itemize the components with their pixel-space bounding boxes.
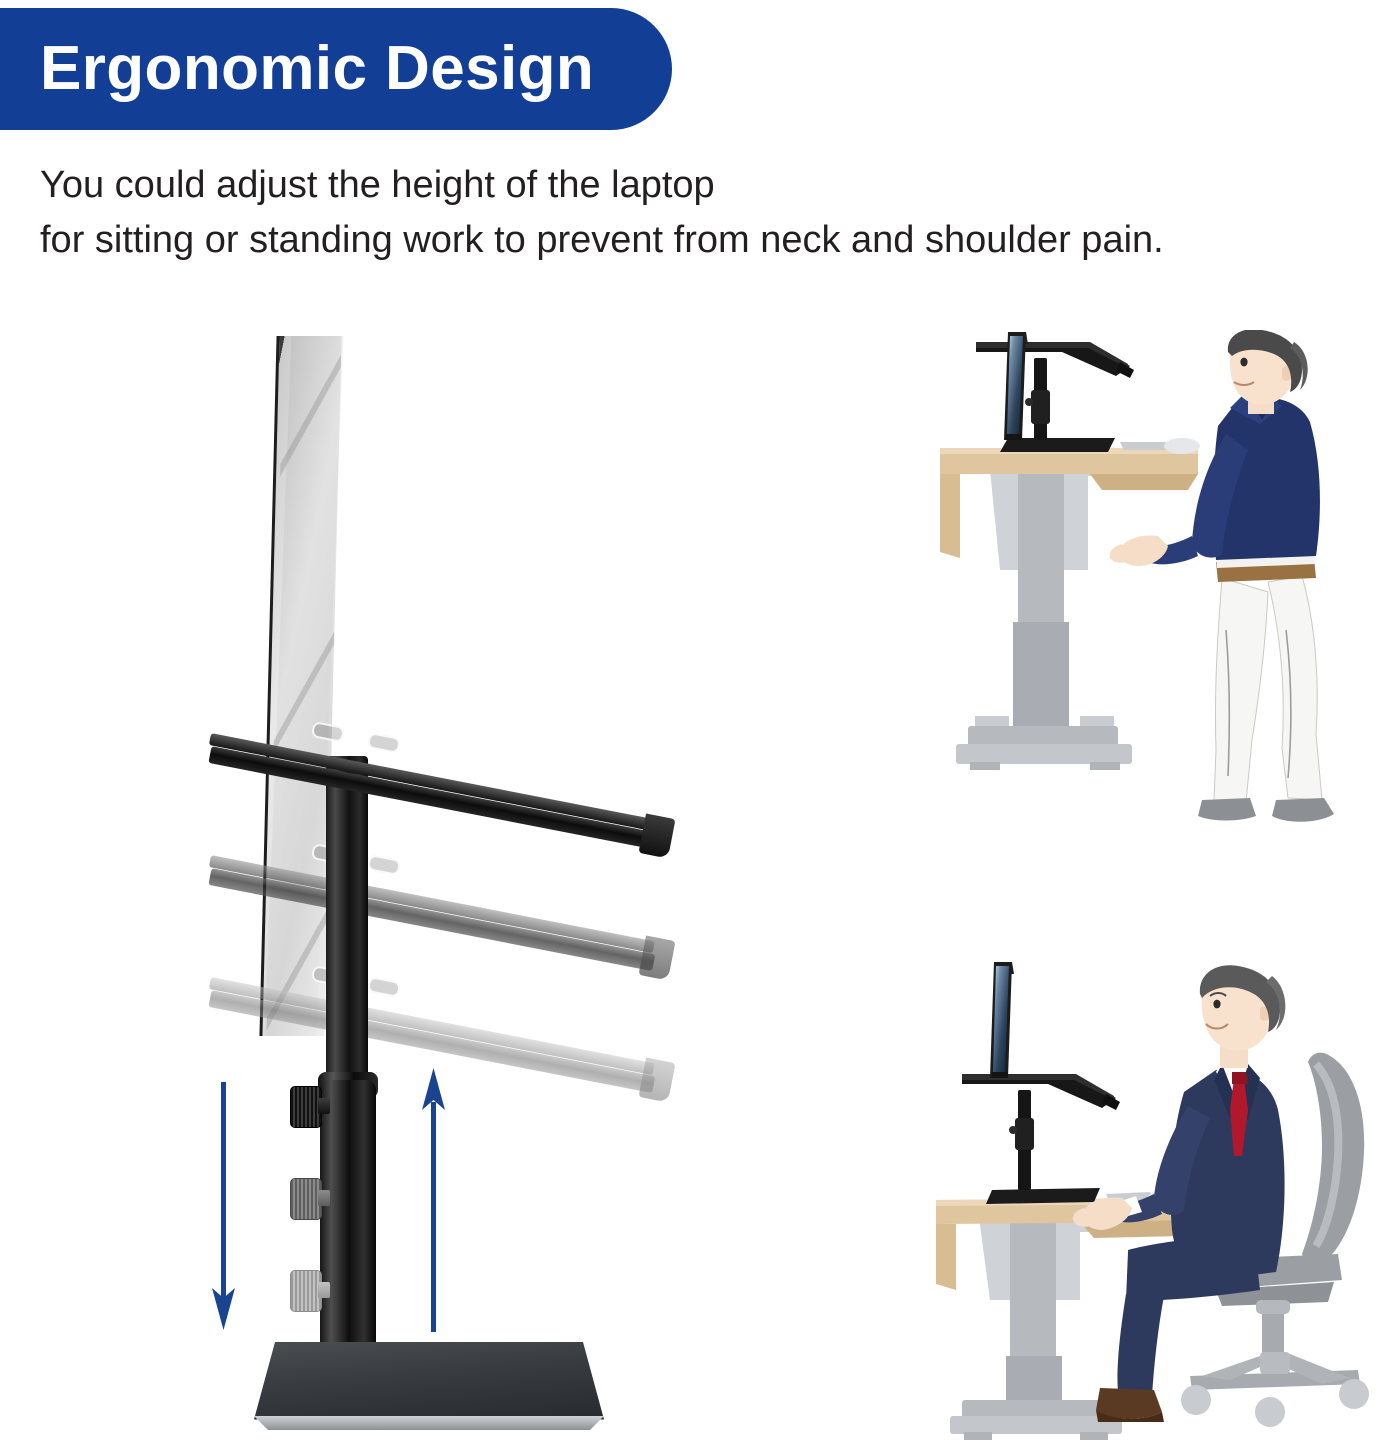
- subtitle-line-2: for sitting or standing work to prevent …: [40, 213, 1340, 268]
- standing-laptop-stand: [976, 342, 1134, 452]
- pole-upper-section: [326, 756, 368, 1086]
- pole-lower-section: [320, 1080, 376, 1380]
- subtitle-line-1: You could adjust the height of the lapto…: [40, 158, 1340, 213]
- product-illustration: [150, 320, 770, 1446]
- sitting-laptop-stand: [962, 1074, 1120, 1204]
- sitting-work-scene: [930, 960, 1385, 1446]
- laptop-tray-middle: [210, 838, 670, 916]
- infographic-canvas: Ergonomic Design You could adjust the he…: [0, 0, 1388, 1446]
- sitting-person: [1073, 965, 1286, 1422]
- laptop-tray-low: [210, 960, 670, 1038]
- height-lock-knob-bottom[interactable]: [290, 1270, 328, 1310]
- lower-height-arrow: [212, 1068, 236, 1330]
- height-lock-knob-middle[interactable]: [290, 1178, 328, 1218]
- subtitle-block: You could adjust the height of the lapto…: [40, 158, 1340, 268]
- raise-height-arrow: [422, 1068, 446, 1336]
- standing-person: [1110, 330, 1334, 822]
- height-lock-knob-top[interactable]: [290, 1086, 328, 1126]
- laptop-tray-high: [210, 716, 670, 794]
- page-title-badge: Ergonomic Design: [0, 8, 672, 130]
- page-title: Ergonomic Design: [40, 38, 594, 100]
- sitting-laptop-screen: [990, 962, 1014, 1078]
- standing-laptop-screen: [1004, 332, 1028, 440]
- stand-base-edge: [254, 1416, 604, 1430]
- standing-work-scene: [930, 330, 1380, 890]
- standing-desk-frame: [956, 450, 1132, 770]
- sitting-desk-frame: [950, 1210, 1122, 1440]
